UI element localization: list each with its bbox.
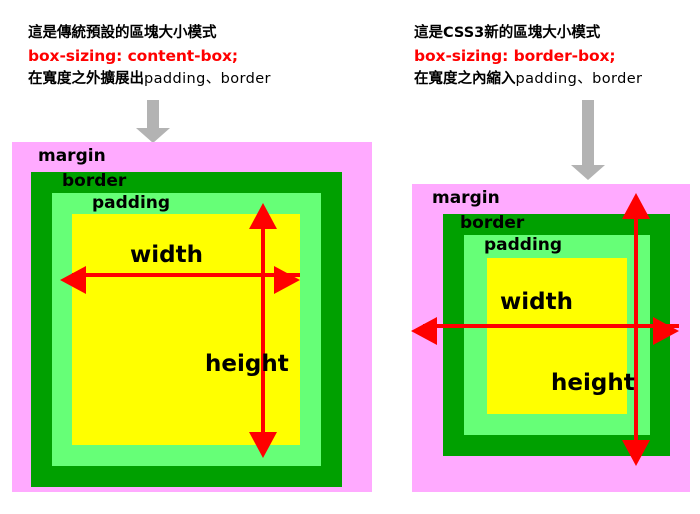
height-arrow-line	[261, 214, 265, 445]
caption-left-title: 這是傳統預設的區塊大小模式	[28, 22, 271, 45]
caption-right-description-suffix: padding、border	[516, 71, 643, 87]
caption-content-box: 這是傳統預設的區塊大小模式 box-sizing: content-box; 在…	[28, 22, 271, 91]
height-arrow-head-down	[249, 432, 277, 458]
label-margin: margin	[38, 147, 106, 166]
width-arrow-head-right	[274, 266, 300, 294]
caption-border-box: 這是CSS3新的區塊大小模式 box-sizing: border-box; 在…	[414, 22, 642, 91]
label-height: height	[551, 371, 635, 396]
box-model-diagram-border-box: margin border padding width height	[412, 184, 690, 492]
arrow-stem	[147, 100, 159, 129]
caption-left-description-prefix: 在寬度之外擴展出	[28, 71, 144, 87]
label-border: border	[62, 172, 126, 191]
arrow-down-icon	[135, 100, 171, 143]
label-padding: padding	[484, 236, 562, 255]
label-padding: padding	[92, 194, 170, 213]
label-width: width	[130, 243, 203, 268]
width-arrow-line	[423, 324, 679, 328]
width-arrow-line	[72, 273, 300, 277]
caption-right-code: box-sizing: border-box;	[414, 45, 642, 68]
caption-left-description: 在寬度之外擴展出padding、border	[28, 68, 271, 91]
label-height: height	[205, 352, 289, 377]
height-arrow-line	[634, 204, 638, 453]
arrow-head	[136, 128, 170, 143]
arrow-head	[571, 165, 605, 180]
label-border: border	[460, 214, 524, 233]
caption-right-title: 這是CSS3新的區塊大小模式	[414, 22, 642, 45]
width-arrow-head-right	[653, 317, 679, 345]
caption-left-description-suffix: padding、border	[144, 71, 271, 87]
arrow-stem	[582, 100, 594, 166]
height-arrow-head-down	[622, 440, 650, 466]
arrow-down-icon	[570, 100, 606, 185]
height-arrow-head-up	[249, 203, 277, 229]
box-model-diagram-content-box: margin border padding width height	[12, 142, 372, 492]
caption-right-description: 在寬度之內縮入padding、border	[414, 68, 642, 91]
label-margin: margin	[432, 189, 500, 208]
width-arrow-head-left	[411, 317, 437, 345]
label-width: width	[500, 290, 573, 315]
height-arrow-head-up	[622, 193, 650, 219]
caption-left-code: box-sizing: content-box;	[28, 45, 271, 68]
width-arrow-head-left	[60, 266, 86, 294]
caption-right-description-prefix: 在寬度之內縮入	[414, 71, 516, 87]
